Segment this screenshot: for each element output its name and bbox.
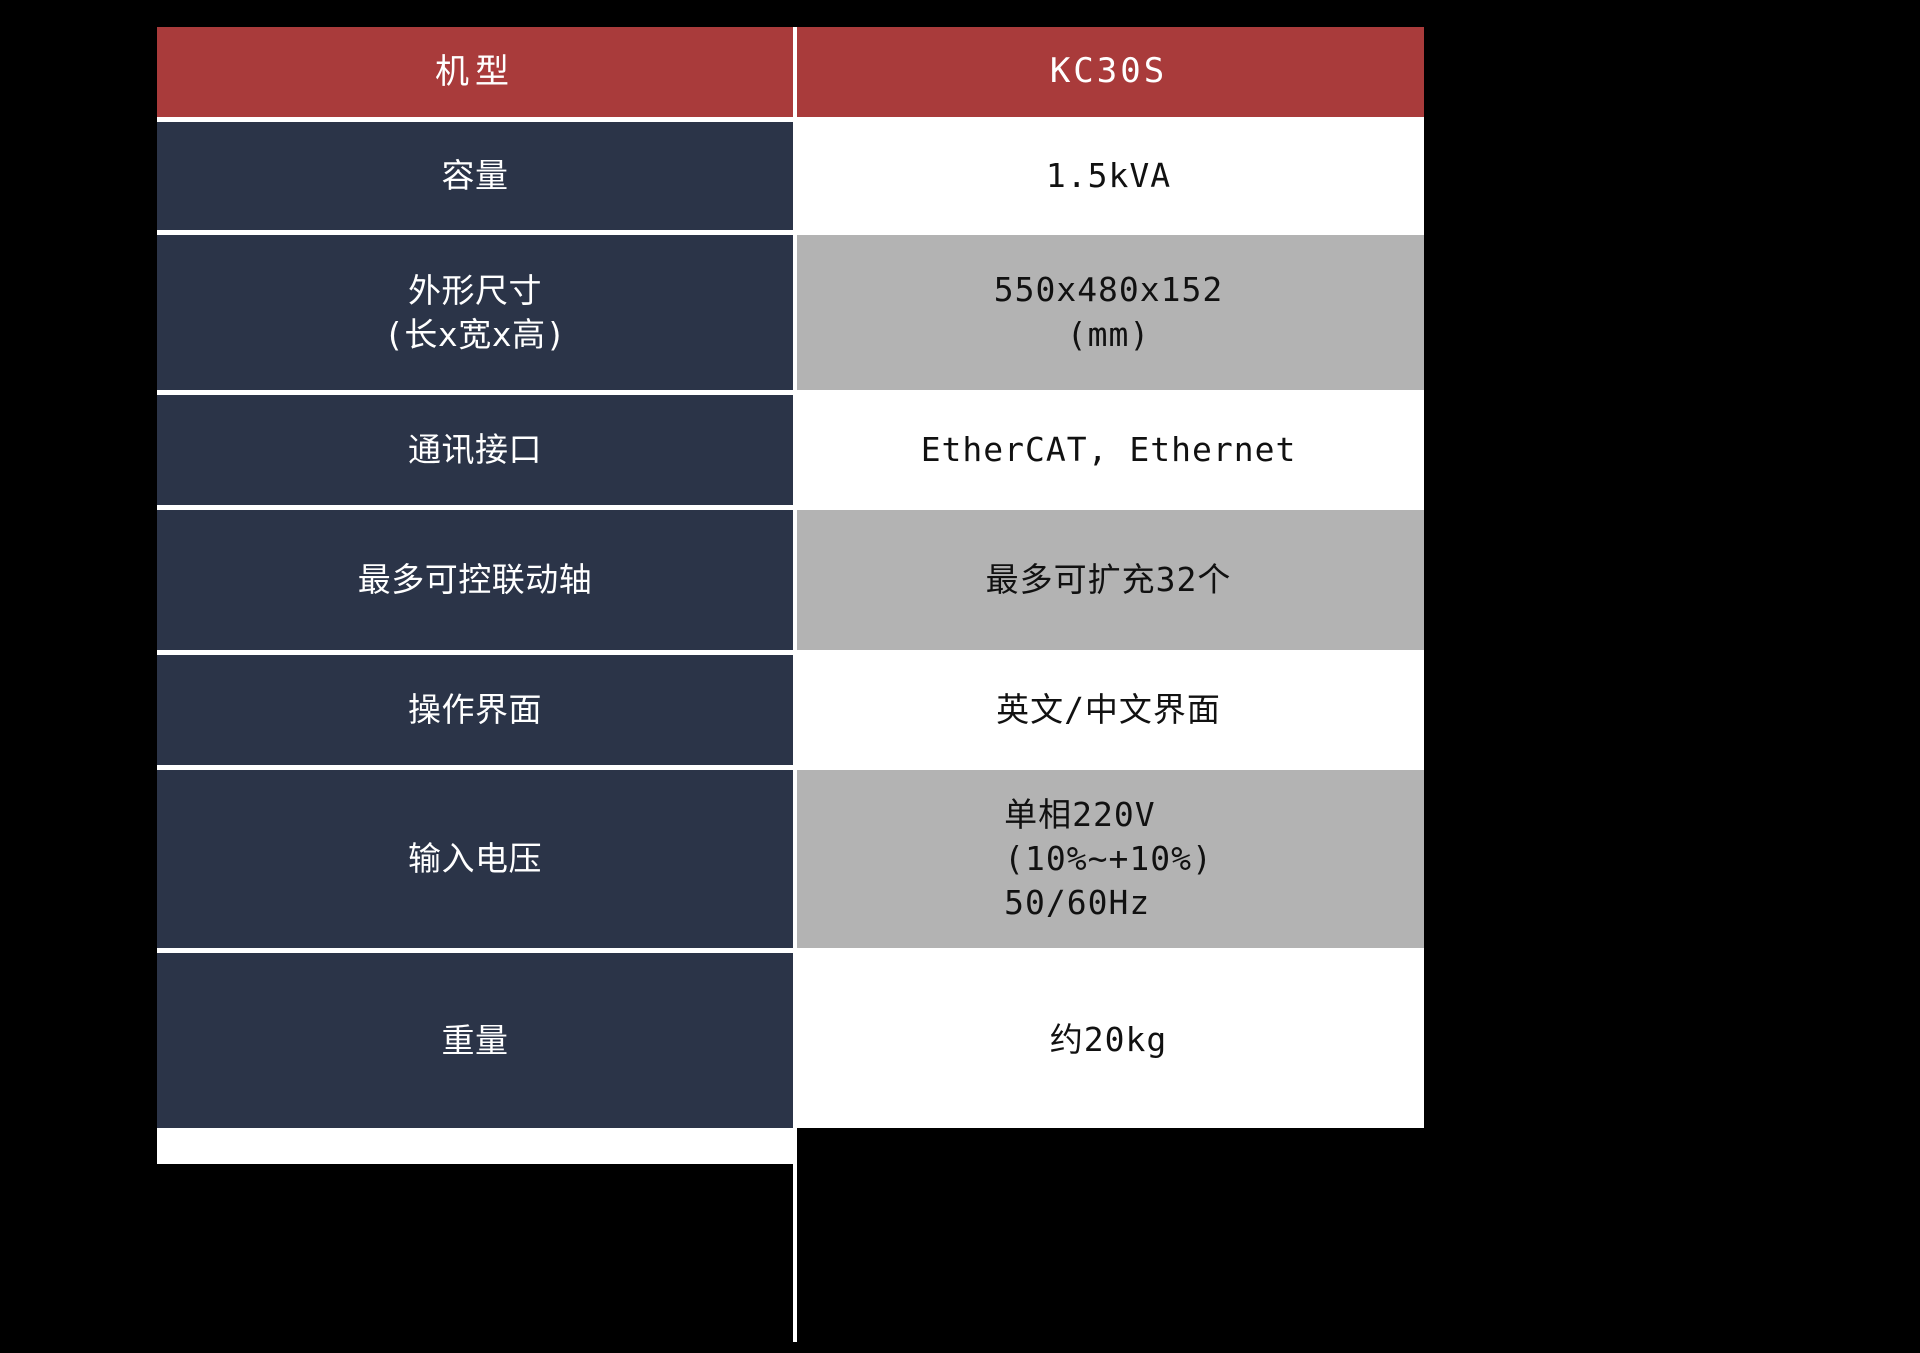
table-header-row: 机型 KC30S [157,27,1424,117]
row-value-interface: 英文/中文界面 [793,655,1424,765]
header-cell-model-value: KC30S [793,27,1424,117]
row-label-dimensions: 外形尺寸 (长x宽x高) [157,235,793,390]
table-row: 最多可控联动轴 最多可扩充32个 [157,510,1424,650]
table-row: 通讯接口 EtherCAT, Ethernet [157,395,1424,505]
row-value-weight: 约20kg [793,953,1424,1128]
row-label-interface: 操作界面 [157,655,793,765]
table-row: 外形尺寸 (长x宽x高) 550x480x152 (mm) [157,235,1424,390]
table-row: 重量 约20kg [157,953,1424,1128]
table-bottom-strip [157,1128,793,1164]
table-row: 输入电压 单相220V (10%~+10%) 50/60Hz [157,770,1424,948]
row-label-weight: 重量 [157,953,793,1128]
row-value-max-axes: 最多可扩充32个 [793,510,1424,650]
row-value-communication: EtherCAT, Ethernet [793,395,1424,505]
row-value-capacity: 1.5kVA [793,122,1424,230]
row-label-capacity: 容量 [157,122,793,230]
row-label-input-voltage: 输入电压 [157,770,793,948]
row-value-dimensions: 550x480x152 (mm) [793,235,1424,390]
row-label-communication: 通讯接口 [157,395,793,505]
header-cell-model-label: 机型 [157,27,793,117]
specification-table: 机型 KC30S 容量 1.5kVA 外形尺寸 (长x宽x高) 550x480x… [157,27,1424,1342]
column-divider [793,27,797,1342]
table-row: 操作界面 英文/中文界面 [157,655,1424,765]
table-row: 容量 1.5kVA [157,122,1424,230]
row-value-input-voltage: 单相220V (10%~+10%) 50/60Hz [793,770,1424,948]
row-label-max-axes: 最多可控联动轴 [157,510,793,650]
